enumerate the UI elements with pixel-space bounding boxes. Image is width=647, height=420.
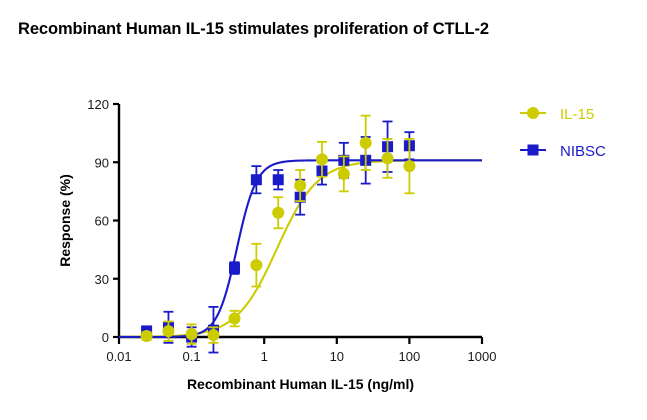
legend-item-nibsc[interactable]: NIBSC — [520, 143, 606, 160]
data-point — [273, 174, 284, 185]
legend-marker-square-icon — [528, 145, 539, 156]
y-tick-label-0: 0 — [102, 330, 109, 345]
series-nibsc — [141, 121, 415, 352]
data-point — [338, 168, 350, 180]
y-tick-label-30: 30 — [95, 272, 109, 287]
data-point — [403, 160, 415, 172]
data-point — [360, 137, 372, 149]
y-tick-label-60: 60 — [95, 214, 109, 229]
data-point — [162, 325, 174, 337]
series-il-15 — [141, 116, 416, 344]
chart-container: Recombinant Human IL-15 stimulates proli… — [0, 0, 647, 420]
x-tick-label-1: 1 — [261, 349, 268, 364]
data-point — [207, 329, 219, 341]
x-tick-label-0.01: 0.01 — [106, 349, 131, 364]
data-point — [229, 263, 240, 274]
x-tick-label-1000: 1000 — [468, 349, 497, 364]
legend-label: NIBSC — [560, 143, 606, 160]
x-axis-title: Recombinant Human IL-15 (ng/ml) — [187, 376, 414, 392]
data-point — [141, 330, 153, 342]
x-tick-label-10: 10 — [330, 349, 344, 364]
y-tick-label-120: 120 — [87, 97, 109, 112]
chart-plot-area: 03060901200.010.11101001000Recombinant H… — [0, 0, 647, 420]
x-tick-label-100: 100 — [399, 349, 421, 364]
data-point — [186, 328, 198, 340]
legend-item-il-15[interactable]: IL-15 — [520, 106, 594, 123]
x-tick-label-0.1: 0.1 — [183, 349, 201, 364]
data-point — [229, 313, 241, 325]
data-point — [382, 152, 394, 164]
data-point — [250, 259, 262, 271]
legend-label: IL-15 — [560, 106, 594, 123]
data-point — [251, 174, 262, 185]
y-tick-label-90: 90 — [95, 155, 109, 170]
data-point — [316, 153, 328, 165]
y-axis-title: Response (%) — [57, 174, 73, 267]
data-point — [272, 207, 284, 219]
data-point — [294, 180, 306, 192]
legend-marker-circle-icon — [527, 107, 539, 119]
